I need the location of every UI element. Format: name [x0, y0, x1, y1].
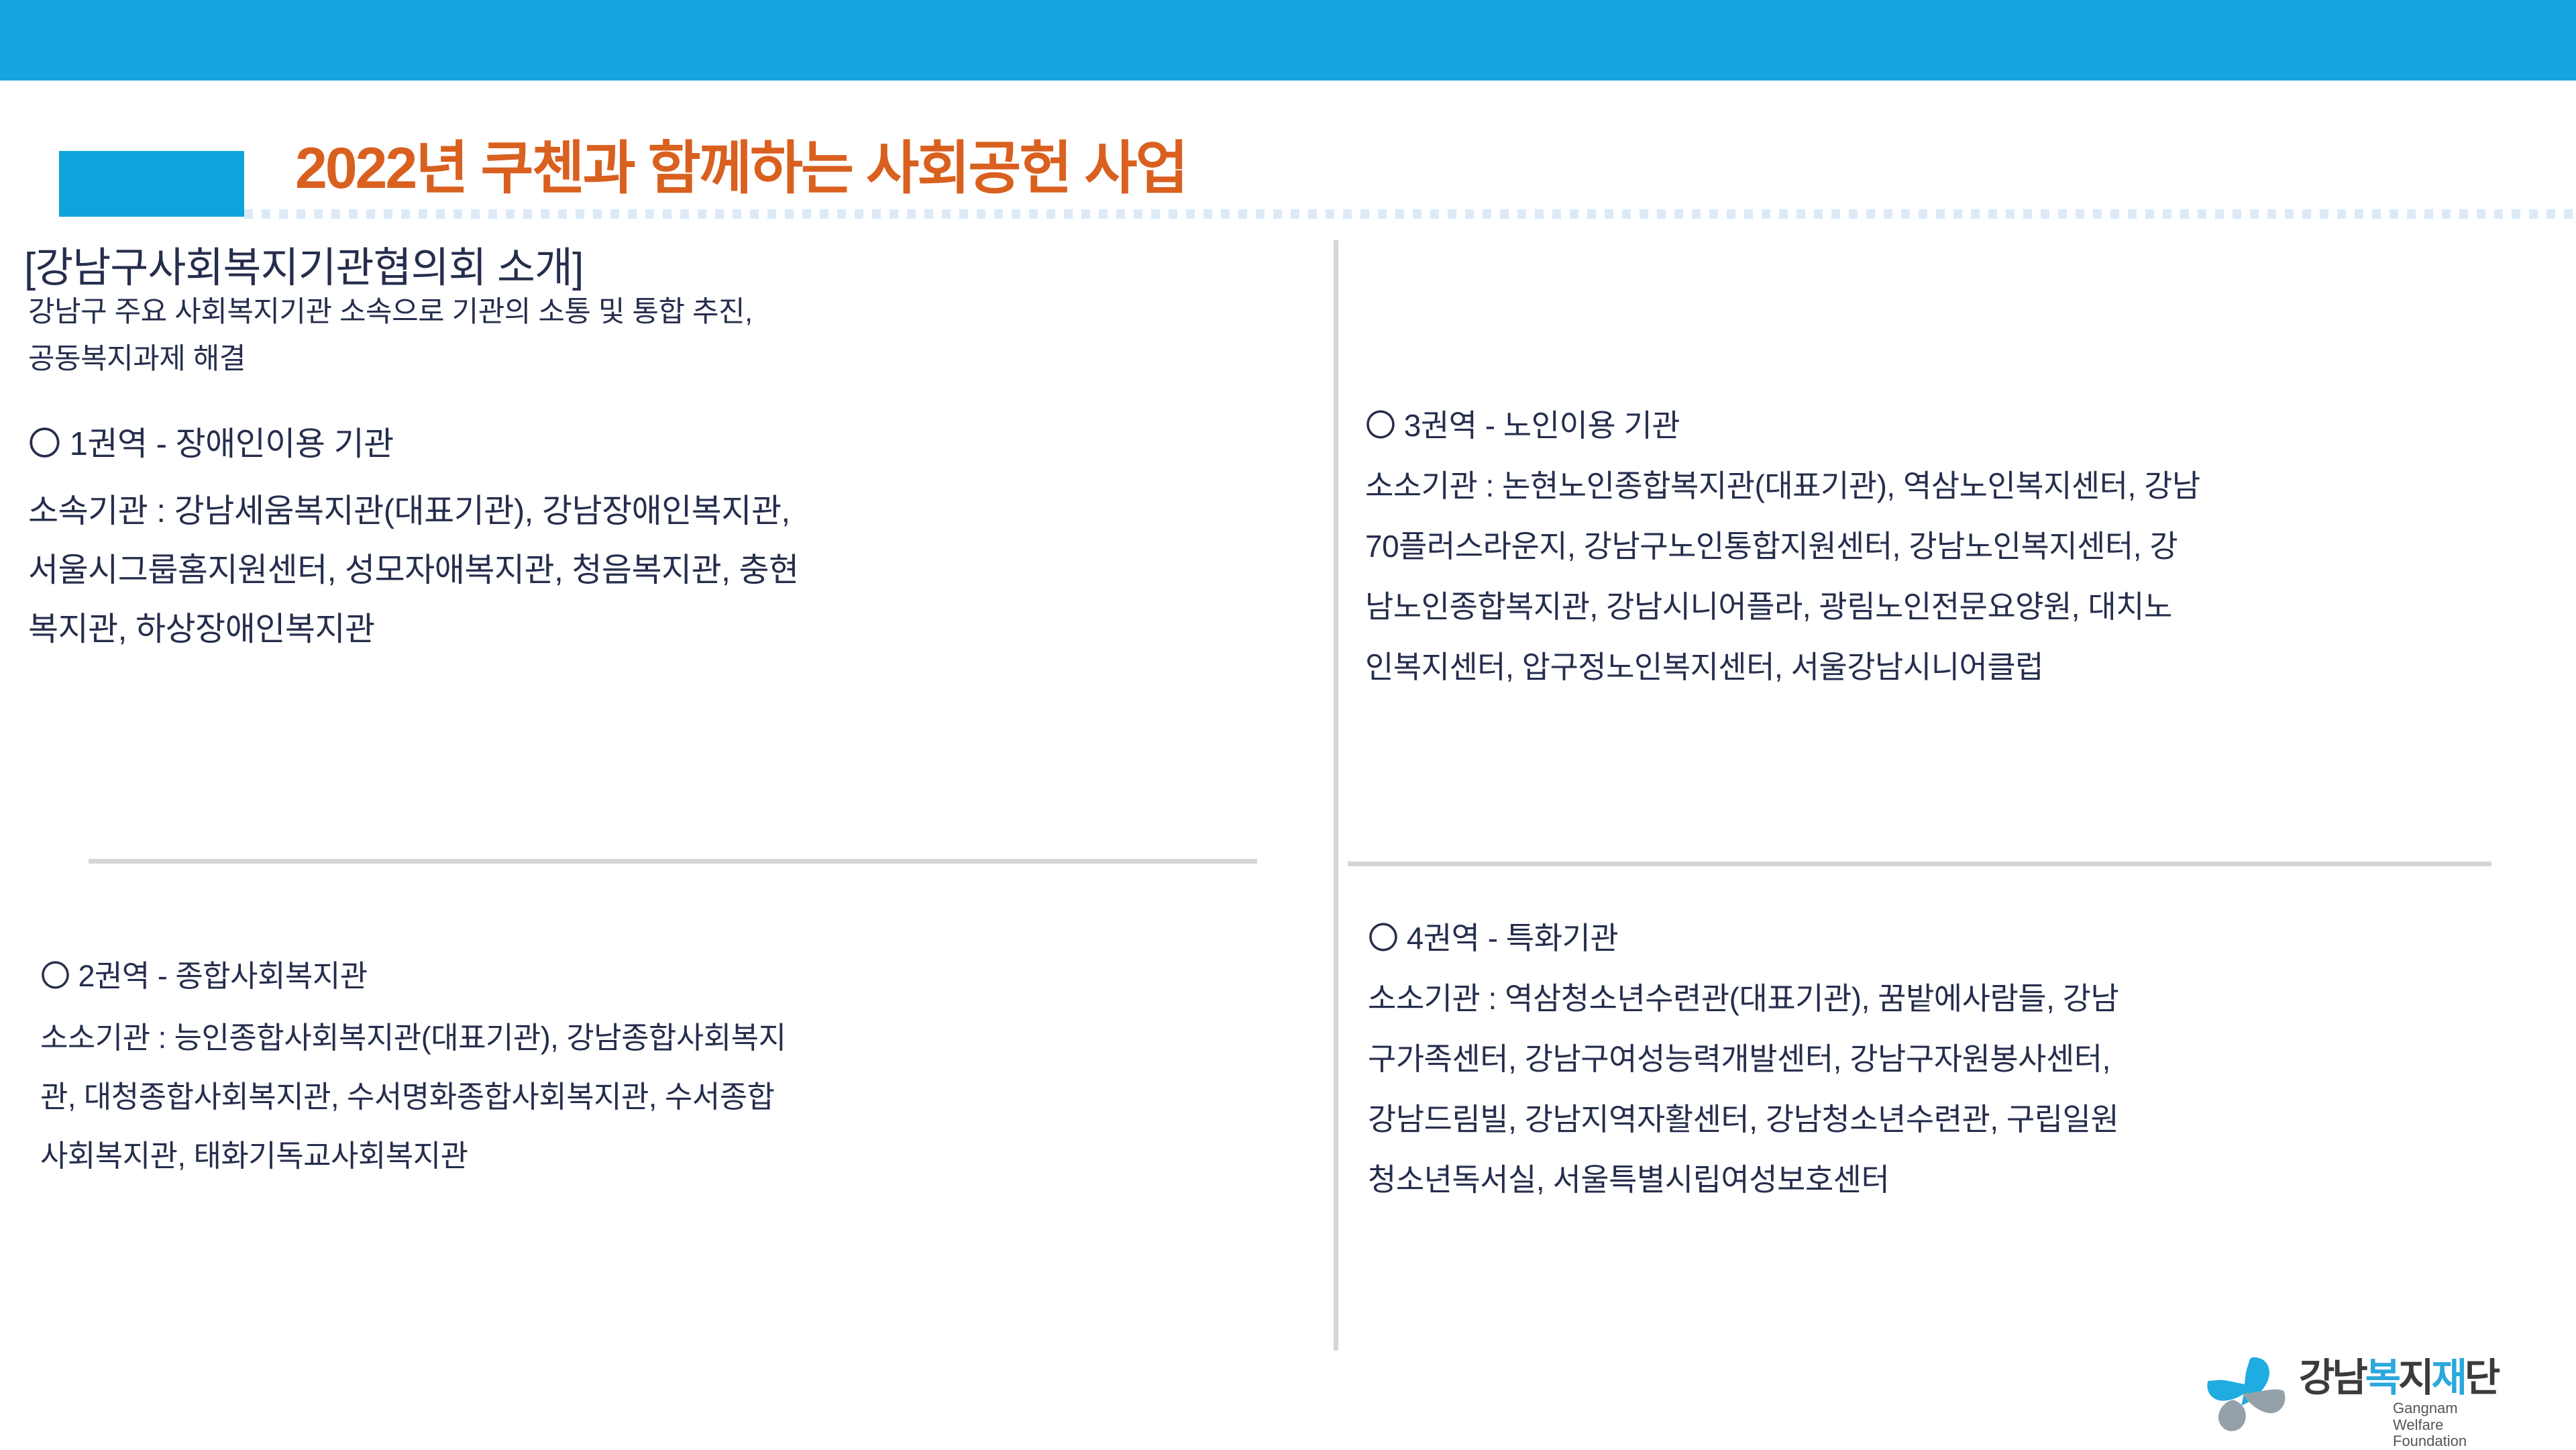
zone4-heading: 〇 4권역 - 특화기관	[1368, 914, 1618, 958]
zone2-heading: 〇 2권역 - 종합사회복지관	[40, 951, 368, 995]
zone3-heading: 〇 3권역 - 노인이용 기관	[1365, 401, 1680, 446]
left-column: [강남구사회복지기관협의회 소개] 강남구 주요 사회복지기관 소속으로 기관의…	[0, 228, 1334, 1449]
column-separator	[1334, 240, 1338, 1351]
title-block: 2022년 쿠첸과 함께하는 사회공헌 사업	[0, 81, 2576, 215]
logo-wordmark: 강남복지재단 Gangnam Welfare Foundation	[2299, 1359, 2553, 1433]
title-accent-square	[59, 151, 244, 217]
zone1-heading: 〇 1권역 - 장애인이용 기관	[28, 417, 394, 465]
zone2-line-2: 관, 대청종합사회복지관, 수서명화종합사회복지관, 수서종합	[40, 1072, 775, 1116]
organization-logo: 강남복지재단 Gangnam Welfare Foundation	[2204, 1351, 2553, 1438]
zone3-line-1: 소소기관 : 논현노인종합복지관(대표기관), 역삼노인복지센터, 강남	[1365, 462, 2200, 506]
logo-korean-wordmark: 강남복지재단	[2299, 1359, 2498, 1398]
zone1-line-1: 소속기관 : 강남세움복지관(대표기관), 강남장애인복지관,	[28, 484, 790, 532]
left-column-divider	[89, 859, 1257, 864]
butterfly-mark-icon	[2204, 1355, 2290, 1434]
zone1-line-2: 서울시그룹홈지원센터, 성모자애복지관, 청음복지관, 충현	[28, 543, 799, 591]
zone4-line-2: 구가족센터, 강남구여성능력개발센터, 강남구자원봉사센터,	[1368, 1035, 2110, 1079]
logo-kr-part-3: 지	[2398, 1356, 2431, 1400]
title-dotted-rule	[244, 209, 2576, 219]
zone3-line-2: 70플러스라운지, 강남구노인통합지원센터, 강남노인복지센터, 강	[1365, 522, 2178, 566]
right-column: 〇 3권역 - 노인이용 기관 소소기관 : 논현노인종합복지관(대표기관), …	[1338, 228, 2576, 1449]
slide-content: [강남구사회복지기관협의회 소개] 강남구 주요 사회복지기관 소속으로 기관의…	[0, 228, 2576, 1449]
zone4-line-1: 소소기관 : 역삼청소년수련관(대표기관), 꿈밭에사람들, 강남	[1368, 974, 2118, 1019]
zone3-line-4: 인복지센터, 압구정노인복지센터, 서울강남시니어클럽	[1365, 643, 2043, 687]
zone4-line-4: 청소년독서실, 서울특별시립여성보호센터	[1368, 1155, 1889, 1200]
logo-kr-part-5: 단	[2465, 1356, 2498, 1400]
zone4-line-3: 강남드림빌, 강남지역자활센터, 강남청소년수련관, 구립일원	[1368, 1095, 2118, 1139]
zone2-line-1: 소소기관 : 능인종합사회복지관(대표기관), 강남종합사회복지	[40, 1013, 786, 1057]
right-column-divider	[1348, 862, 2491, 866]
intro-heading: [강남구사회복지기관협의회 소개]	[24, 234, 583, 294]
logo-english-wordmark: Gangnam Welfare Foundation	[2393, 1400, 2467, 1450]
logo-kr-part-1: 강남	[2299, 1356, 2365, 1400]
top-accent-bar	[0, 0, 2576, 81]
zone1-line-3: 복지관, 하상장애인복지관	[28, 603, 375, 650]
logo-kr-part-2: 복	[2365, 1356, 2398, 1400]
zone3-line-3: 남노인종합복지관, 강남시니어플라, 광림노인전문요양원, 대치노	[1365, 582, 2172, 627]
intro-line-1: 강남구 주요 사회복지기관 소속으로 기관의 소통 및 통합 추진,	[28, 289, 753, 330]
intro-line-2: 공동복지과제 해결	[28, 335, 246, 377]
zone2-line-3: 사회복지관, 태화기독교사회복지관	[40, 1131, 468, 1175]
page-title: 2022년 쿠첸과 함께하는 사회공헌 사업	[295, 140, 1187, 197]
logo-kr-part-4: 재	[2431, 1356, 2464, 1400]
